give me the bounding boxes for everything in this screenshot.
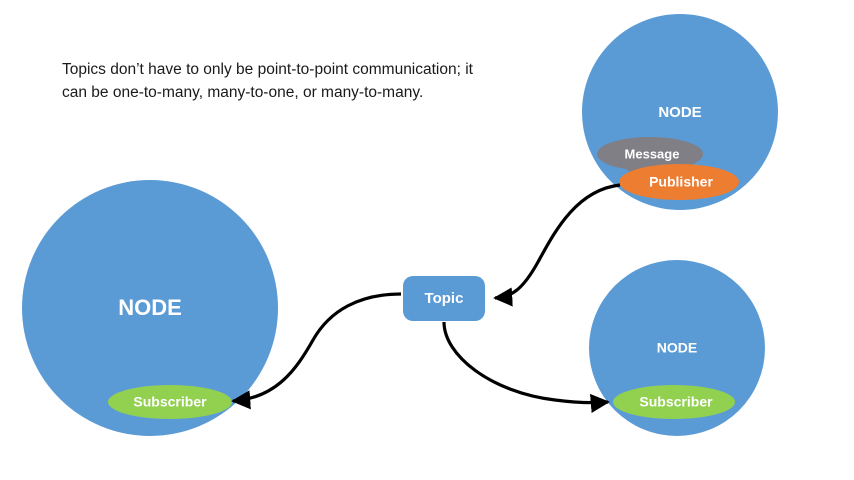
node-top-right[interactable]: NODE Message Publisher: [582, 14, 778, 210]
caption-text: Topics don’t have to only be point-to-po…: [62, 58, 492, 105]
arrow-topic-to-subscriber-right: [444, 322, 608, 403]
topic-box[interactable]: Topic: [403, 276, 485, 321]
arrow-publisher-to-topic: [495, 185, 620, 298]
node-top-right-label: NODE: [658, 104, 701, 121]
node-bottom-right[interactable]: NODE Subscriber: [589, 260, 765, 436]
publisher-label: Publisher: [649, 174, 713, 190]
topic-box-label: Topic: [425, 290, 464, 307]
message-bubble-label: Message: [625, 146, 680, 161]
node-left-label: NODE: [118, 295, 182, 320]
diagram-canvas: NODE Subscriber NODE Message Publisher N…: [0, 0, 854, 480]
subscriber-left-label: Subscriber: [133, 394, 207, 410]
subscriber-right-label: Subscriber: [639, 394, 713, 410]
node-left[interactable]: NODE Subscriber: [22, 180, 278, 436]
node-bottom-right-label: NODE: [657, 340, 697, 356]
